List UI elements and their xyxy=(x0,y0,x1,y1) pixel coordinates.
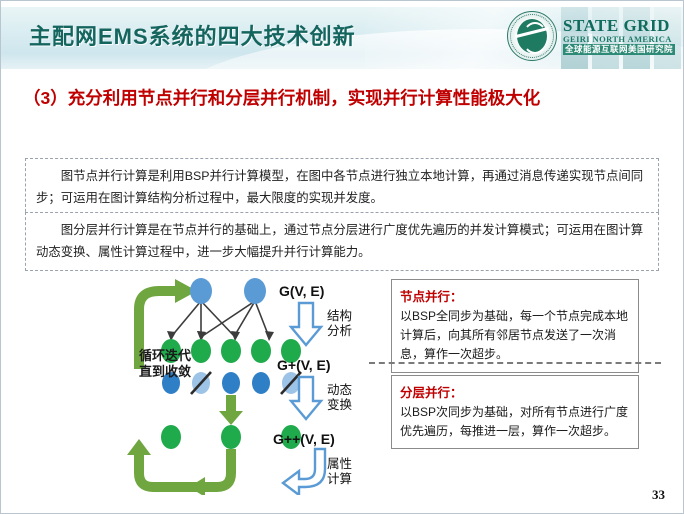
graph-label-g: G(V, E) xyxy=(279,283,324,299)
step-line-1: 结构 xyxy=(327,309,352,324)
state-grid-globe-emblem-icon xyxy=(507,11,557,61)
dashed-divider xyxy=(369,362,661,364)
graph-label-g-plus-plus: G++(V, E) xyxy=(273,431,335,447)
graph-parallel-diagram: 循环迭代 直到收敛 G(V, E) G+(V, E) G++(V, E) 结构 … xyxy=(119,273,389,495)
step-line-2: 分析 xyxy=(327,324,352,339)
info-box-node-parallel: 节点并行： 以BSP全同步为基础，每一个节点完成本地计算后，向其所有邻居节点发送… xyxy=(391,279,639,373)
loop-label-line-2: 直到收敛 xyxy=(119,364,211,380)
loop-label: 循环迭代 直到收敛 xyxy=(119,348,211,381)
info-box-layer-parallel: 分层并行： 以BSP次同步为基础，对所有节点进行广度优先遍历，每推进一层，算作一… xyxy=(391,375,639,449)
step-line-1: 动态 xyxy=(327,383,352,398)
info-box-title: 分层并行： xyxy=(400,382,630,401)
step-label-dynamic-transform: 动态 变换 xyxy=(327,383,352,413)
section-heading: （3）充分利用节点并行和分层并行机制，实现并行计算性能极大化 xyxy=(23,87,659,111)
step-label-attribute-compute: 属性 计算 xyxy=(327,457,352,487)
green-loop-arrow-bottom-left xyxy=(127,439,197,487)
info-box-body: 以BSP全同步为基础，每一个节点完成本地计算后，向其所有邻居节点发送了一次消息，… xyxy=(400,307,630,365)
brand-logo: STATE GRID GEIRI NORTH AMERICA 全球能源互联网美国… xyxy=(507,11,675,61)
graph-edge-arrowheads xyxy=(167,331,274,341)
paragraph-box-node-parallel: 图节点并行计算是利用BSP并行计算模型，在图中各节点进行独立本地计算，再通过消息… xyxy=(25,158,659,217)
blue-hollow-arrow-attribute xyxy=(283,449,325,495)
step-label-structure-analysis: 结构 分析 xyxy=(327,309,352,339)
slide-canvas: 主配网EMS系统的四大技术创新 STATE GRID GEIRI NORTH A… xyxy=(0,0,684,514)
graph-level-1-nodes xyxy=(190,278,266,304)
step-line-2: 计算 xyxy=(327,472,352,487)
graph-edges xyxy=(171,301,269,337)
info-box-body: 以BSP次同步为基础，对所有节点进行广度优先遍历，每推进一层，算作一次超步。 xyxy=(400,403,630,441)
page-number: 33 xyxy=(652,487,665,503)
paragraph-text: 图节点并行计算是利用BSP并行计算模型，在图中各节点进行独立本地计算，再通过消息… xyxy=(36,166,648,209)
paragraph-text: 图分层并行计算是在节点并行的基础上，通过节点分层进行广度优先遍历的并发计算模式；… xyxy=(36,220,648,263)
paragraph-box-layer-parallel: 图分层并行计算是在节点并行的基础上，通过节点分层进行广度优先遍历的并发计算模式；… xyxy=(25,212,659,271)
blue-hollow-arrow-structure xyxy=(291,303,321,345)
brand-name: STATE GRID xyxy=(563,17,675,35)
brand-subtitle: GEIRI NORTH AMERICA xyxy=(563,35,675,44)
step-line-1: 属性 xyxy=(327,457,352,472)
green-down-arrow xyxy=(219,395,243,425)
graph-label-g-plus: G+(V, E) xyxy=(277,357,331,373)
green-loop-arrow-bottom-right xyxy=(189,449,231,495)
step-line-2: 变换 xyxy=(327,398,352,413)
brand-subtitle-cn: 全球能源互联网美国研究院 xyxy=(563,44,675,55)
page-title: 主配网EMS系统的四大技术创新 xyxy=(29,19,356,51)
loop-label-line-1: 循环迭代 xyxy=(119,348,211,364)
info-box-title: 节点并行： xyxy=(400,286,630,305)
